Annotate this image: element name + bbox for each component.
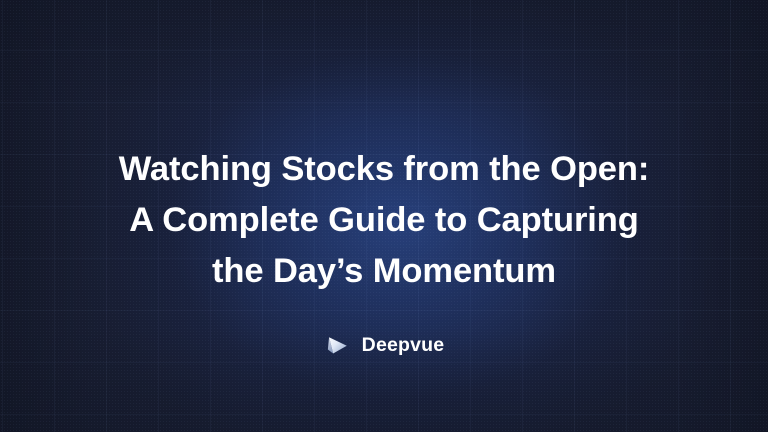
- page-title: Watching Stocks from the Open: A Complet…: [0, 144, 768, 297]
- brand-lockup: Deepvue: [0, 333, 768, 359]
- title-line-3: the Day’s Momentum: [40, 246, 728, 297]
- cover-content: Watching Stocks from the Open: A Complet…: [0, 0, 768, 432]
- title-line-2: A Complete Guide to Capturing: [40, 195, 728, 246]
- brand-name: Deepvue: [362, 336, 445, 356]
- title-line-1: Watching Stocks from the Open:: [40, 144, 728, 195]
- deepvue-paper-plane-icon: [324, 333, 350, 359]
- article-cover-card: Watching Stocks from the Open: A Complet…: [0, 0, 768, 432]
